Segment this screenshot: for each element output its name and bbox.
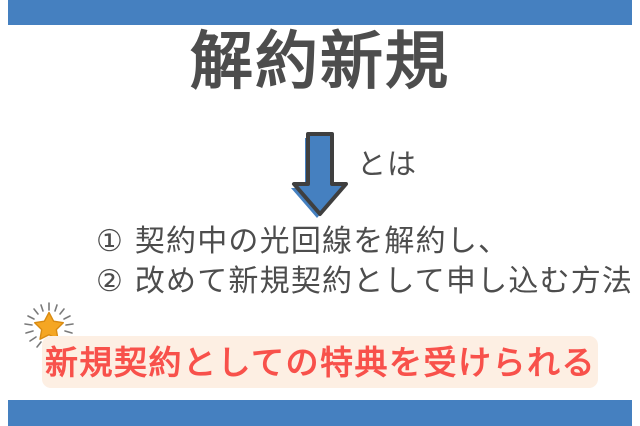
slide-canvas: 解約新規 とは ① 契約中の光回線を解約し、 ② 改めて新規契約として申し込む方… [0, 0, 640, 426]
top-accent-bar [8, 0, 632, 25]
page-title: 解約新規 [0, 29, 640, 95]
definition-list: ① 契約中の光回線を解約し、 ② 改めて新規契約として申し込む方法 [96, 222, 636, 302]
bottom-accent-bar [8, 400, 632, 426]
toha-label: とは [357, 150, 417, 179]
arrow-row: とは [0, 128, 640, 220]
benefit-text: 新規契約としての特典を受けられる [45, 343, 605, 383]
list-item: ① 契約中の光回線を解約し、 [96, 222, 636, 262]
list-item: ② 改めて新規契約として申し込む方法 [96, 262, 636, 302]
down-arrow-icon [288, 128, 354, 220]
